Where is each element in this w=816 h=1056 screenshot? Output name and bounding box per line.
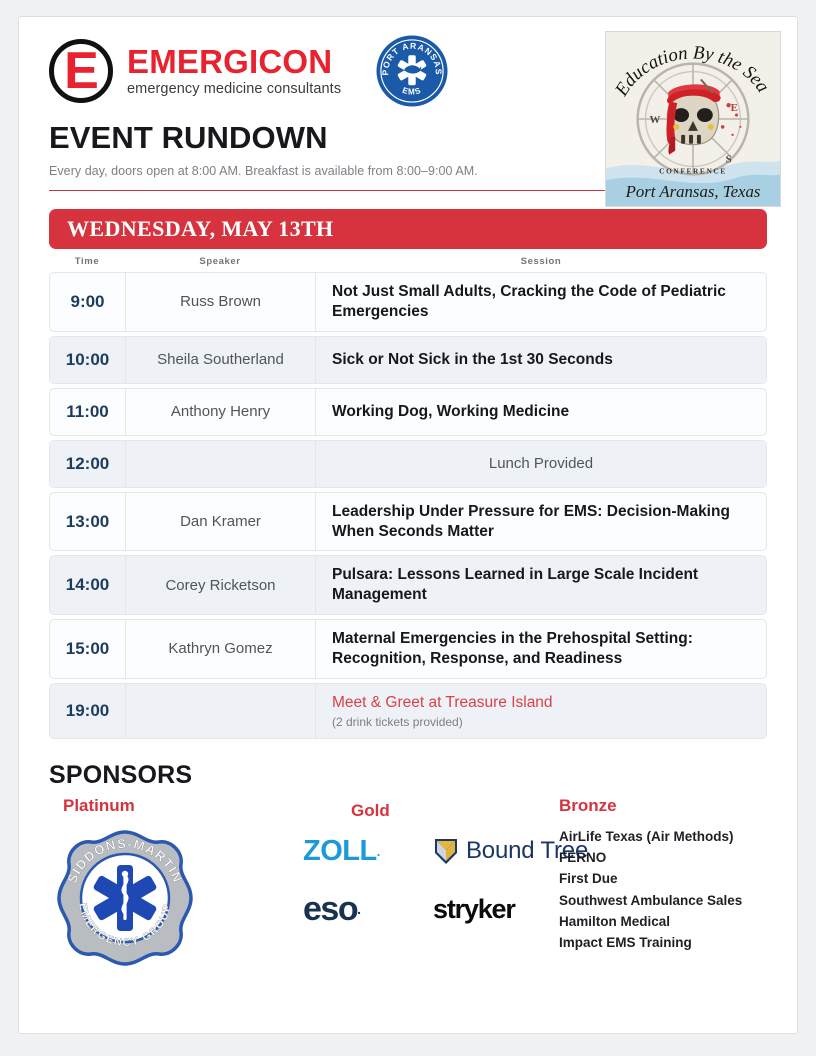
cell-speaker: Anthony Henry	[126, 389, 316, 435]
sponsor-tier-bronze: Bronze AirLife Texas (Air Methods)FERNOF…	[551, 796, 767, 973]
cell-speaker	[126, 684, 316, 738]
svg-text:E: E	[731, 102, 738, 114]
bronze-sponsor-item: Southwest Ambulance Sales	[559, 890, 767, 911]
cell-session: Sick or Not Sick in the 1st 30 Seconds	[316, 337, 766, 383]
cell-session: Pulsara: Lessons Learned in Large Scale …	[316, 556, 766, 614]
schedule-table: Time Speaker Session 9:00Russ BrownNot J…	[49, 249, 767, 738]
cell-session: Working Dog, Working Medicine	[316, 389, 766, 435]
bronze-sponsor-item: First Due	[559, 868, 767, 889]
sponsor-tier-gold: Gold ZOLL. Bound Tree	[295, 796, 551, 973]
zoll-registered-mark: .	[377, 844, 380, 859]
eso-logo: eso.	[303, 890, 433, 929]
zoll-wordmark: ZOLL	[303, 835, 377, 868]
cell-session: Lunch Provided	[316, 441, 766, 487]
bound-tree-shield-icon	[433, 837, 459, 865]
zoll-logo: ZOLL.	[303, 835, 433, 868]
day-banner-label: WEDNESDAY, MAY 13TH	[67, 216, 334, 242]
stryker-wordmark: stryker	[433, 894, 515, 925]
port-aransas-ems-logo-icon: PORT ARANSAS EMS	[375, 34, 449, 108]
cell-session: Not Just Small Adults, Cracking the Code…	[316, 273, 766, 331]
cell-speaker: Russ Brown	[126, 273, 316, 331]
table-row: 12:00Lunch Provided	[49, 440, 767, 488]
cell-session: Maternal Emergencies in the Prehospital …	[316, 620, 766, 678]
emergicon-tagline: emergency medicine consultants	[127, 81, 341, 97]
day-banner: WEDNESDAY, MAY 13TH	[49, 209, 767, 249]
cell-time: 15:00	[50, 620, 126, 678]
cell-time: 9:00	[50, 273, 126, 331]
column-header-time: Time	[49, 256, 125, 267]
session-title: Pulsara: Lessons Learned in Large Scale …	[332, 565, 750, 605]
session-title: Meet & Greet at Treasure Island	[332, 693, 750, 713]
table-header-row: Time Speaker Session	[49, 249, 767, 272]
gold-logo-grid: ZOLL. Bound Tree eso.	[303, 835, 551, 929]
sponsors-heading: SPONSORS	[49, 761, 767, 790]
bronze-sponsor-list: AirLife Texas (Air Methods)FERNOFirst Du…	[559, 826, 767, 954]
tier-label-platinum: Platinum	[63, 796, 295, 816]
table-row: 15:00Kathryn GomezMaternal Emergencies i…	[49, 619, 767, 679]
session-title: Working Dog, Working Medicine	[332, 402, 750, 422]
cell-session: Leadership Under Pressure for EMS: Decis…	[316, 493, 766, 551]
document-page: E EMERGICON emergency medicine consultan…	[18, 16, 798, 1034]
session-subnote: (2 drink tickets provided)	[332, 715, 750, 729]
column-header-session: Session	[315, 256, 767, 267]
eso-registered-mark: .	[357, 901, 359, 917]
table-row: 10:00Sheila SoutherlandSick or Not Sick …	[49, 336, 767, 384]
table-row: 11:00Anthony HenryWorking Dog, Working M…	[49, 388, 767, 436]
emergicon-brand-name: EMERGICON	[127, 45, 341, 80]
sponsor-tiers: Platinum SIDDONS-MARTIN EMERGENCY GROUP	[49, 796, 767, 973]
cell-time: 14:00	[50, 556, 126, 614]
emergicon-wordmark: EMERGICON emergency medicine consultants	[127, 45, 341, 97]
bronze-sponsor-item: AirLife Texas (Air Methods)	[559, 826, 767, 847]
cell-speaker: Kathryn Gomez	[126, 620, 316, 678]
cell-session: Meet & Greet at Treasure Island(2 drink …	[316, 684, 766, 738]
tier-label-bronze: Bronze	[559, 796, 767, 816]
session-title: Sick or Not Sick in the 1st 30 Seconds	[332, 350, 750, 370]
svg-text:W: W	[650, 114, 661, 126]
cell-time: 13:00	[50, 493, 126, 551]
column-header-speaker: Speaker	[125, 256, 315, 267]
svg-text:Port Aransas, Texas: Port Aransas, Texas	[625, 182, 761, 201]
table-body: 9:00Russ BrownNot Just Small Adults, Cra…	[49, 272, 767, 738]
svg-text:CONFERENCE: CONFERENCE	[659, 166, 727, 175]
conference-badge-image: W E S	[605, 31, 781, 207]
bronze-sponsor-item: Hamilton Medical	[559, 911, 767, 932]
sponsor-tier-platinum: Platinum SIDDONS-MARTIN EMERGENCY GROUP	[49, 796, 295, 973]
cell-time: 10:00	[50, 337, 126, 383]
svg-text:S: S	[726, 154, 732, 166]
bronze-sponsor-item: Impact EMS Training	[559, 932, 767, 953]
document-header: E EMERGICON emergency medicine consultan…	[19, 17, 797, 178]
session-title: Lunch Provided	[489, 454, 593, 473]
tier-label-gold: Gold	[351, 801, 551, 821]
session-title: Leadership Under Pressure for EMS: Decis…	[332, 502, 750, 542]
cell-speaker: Sheila Southerland	[126, 337, 316, 383]
cell-speaker: Corey Ricketson	[126, 556, 316, 614]
cell-time: 12:00	[50, 441, 126, 487]
emergicon-logo-mark: E	[49, 39, 113, 103]
emergicon-e-letter: E	[64, 45, 98, 97]
table-row: 19:00Meet & Greet at Treasure Island(2 d…	[49, 683, 767, 739]
bronze-sponsor-item: FERNO	[559, 847, 767, 868]
table-row: 9:00Russ BrownNot Just Small Adults, Cra…	[49, 272, 767, 332]
cell-time: 19:00	[50, 684, 126, 738]
session-title: Maternal Emergencies in the Prehospital …	[332, 629, 750, 669]
cell-speaker	[126, 441, 316, 487]
siddons-martin-logo-icon: SIDDONS-MARTIN EMERGENCY GROUP	[55, 828, 295, 973]
table-row: 13:00Dan KramerLeadership Under Pressure…	[49, 492, 767, 552]
eso-wordmark: eso	[303, 890, 357, 929]
cell-speaker: Dan Kramer	[126, 493, 316, 551]
session-title: Not Just Small Adults, Cracking the Code…	[332, 282, 750, 322]
sponsors-section: SPONSORS Platinum SIDDONS-MARTIN	[49, 761, 767, 973]
table-row: 14:00Corey RicketsonPulsara: Lessons Lea…	[49, 555, 767, 615]
cell-time: 11:00	[50, 389, 126, 435]
